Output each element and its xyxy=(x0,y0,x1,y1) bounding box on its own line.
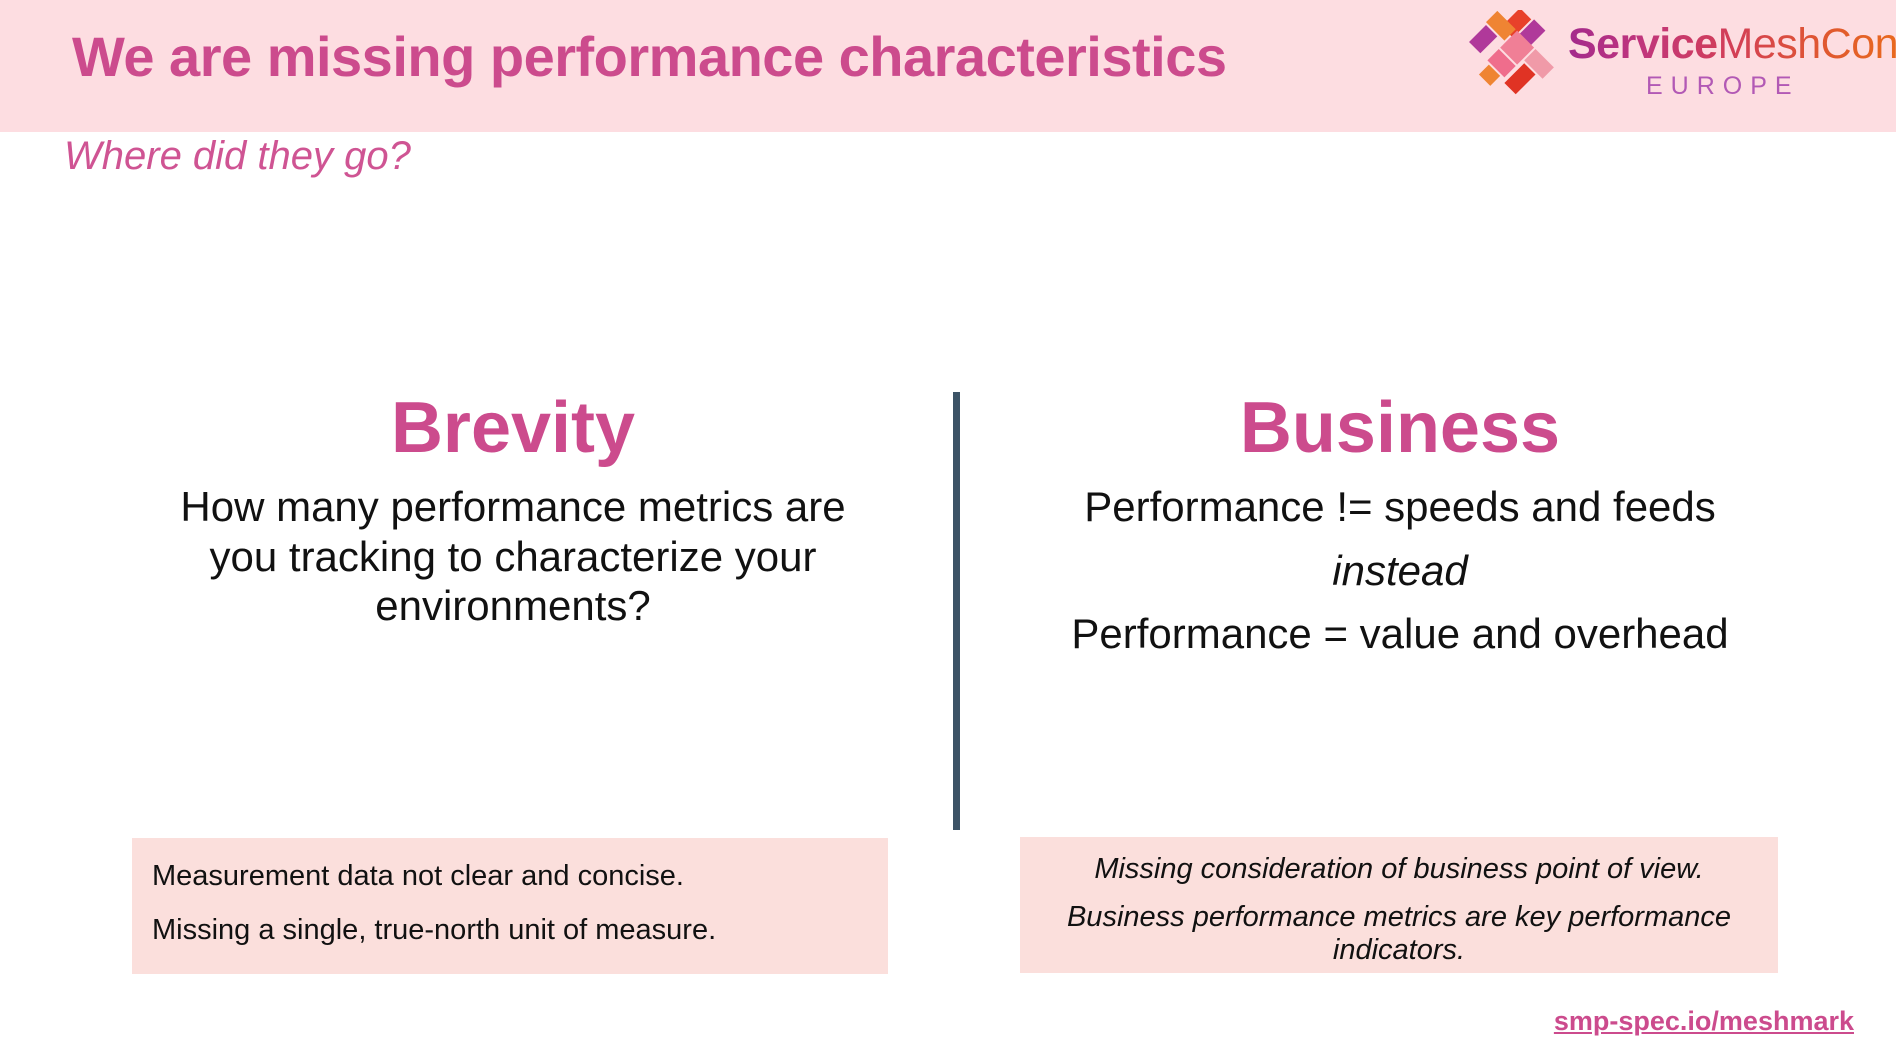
logo-wordmark-bold: Service xyxy=(1568,20,1718,68)
callout-box-brevity: Measurement data not clear and concise. … xyxy=(132,838,888,974)
body-line: Performance = value and overhead xyxy=(1000,609,1800,659)
footer-link[interactable]: smp-spec.io/meshmark xyxy=(1554,1006,1854,1037)
servicemeshcon-diamond-mark xyxy=(1468,10,1562,98)
body-line: Performance != speeds and feeds xyxy=(1000,482,1800,532)
column-heading-brevity: Brevity xyxy=(108,392,918,464)
column-divider xyxy=(953,392,960,830)
callout-line: Missing a single, true-north unit of mea… xyxy=(152,914,868,946)
slide-subtitle: Where did they go? xyxy=(64,134,411,179)
callout-line: Measurement data not clear and concise. xyxy=(152,860,868,892)
logo-wordmark: ServiceMeshCon xyxy=(1568,20,1896,69)
logo-subtitle: EUROPE xyxy=(1646,72,1800,101)
logo-wordmark-light: MeshCon xyxy=(1718,20,1896,68)
page-title: We are missing performance characteristi… xyxy=(72,22,1452,92)
body-line: How many performance metrics are you tra… xyxy=(156,482,870,631)
slide-canvas: We are missing performance characteristi… xyxy=(0,0,1896,1063)
column-heading-business: Business xyxy=(1000,392,1800,464)
callout-line: Business performance metrics are key per… xyxy=(1042,901,1756,966)
servicemeshcon-logo: ServiceMeshCon EUROPE xyxy=(1468,6,1878,124)
callout-line: Missing consideration of business point … xyxy=(1042,853,1756,885)
column-business: Business Performance != speeds and feeds… xyxy=(1000,392,1800,673)
column-body-brevity: How many performance metrics are you tra… xyxy=(108,482,918,631)
callout-box-business: Missing consideration of business point … xyxy=(1020,837,1778,973)
column-body-business: Performance != speeds and feeds instead … xyxy=(1000,482,1800,659)
column-brevity: Brevity How many performance metrics are… xyxy=(108,392,918,645)
body-line-instead: instead xyxy=(1000,546,1800,596)
